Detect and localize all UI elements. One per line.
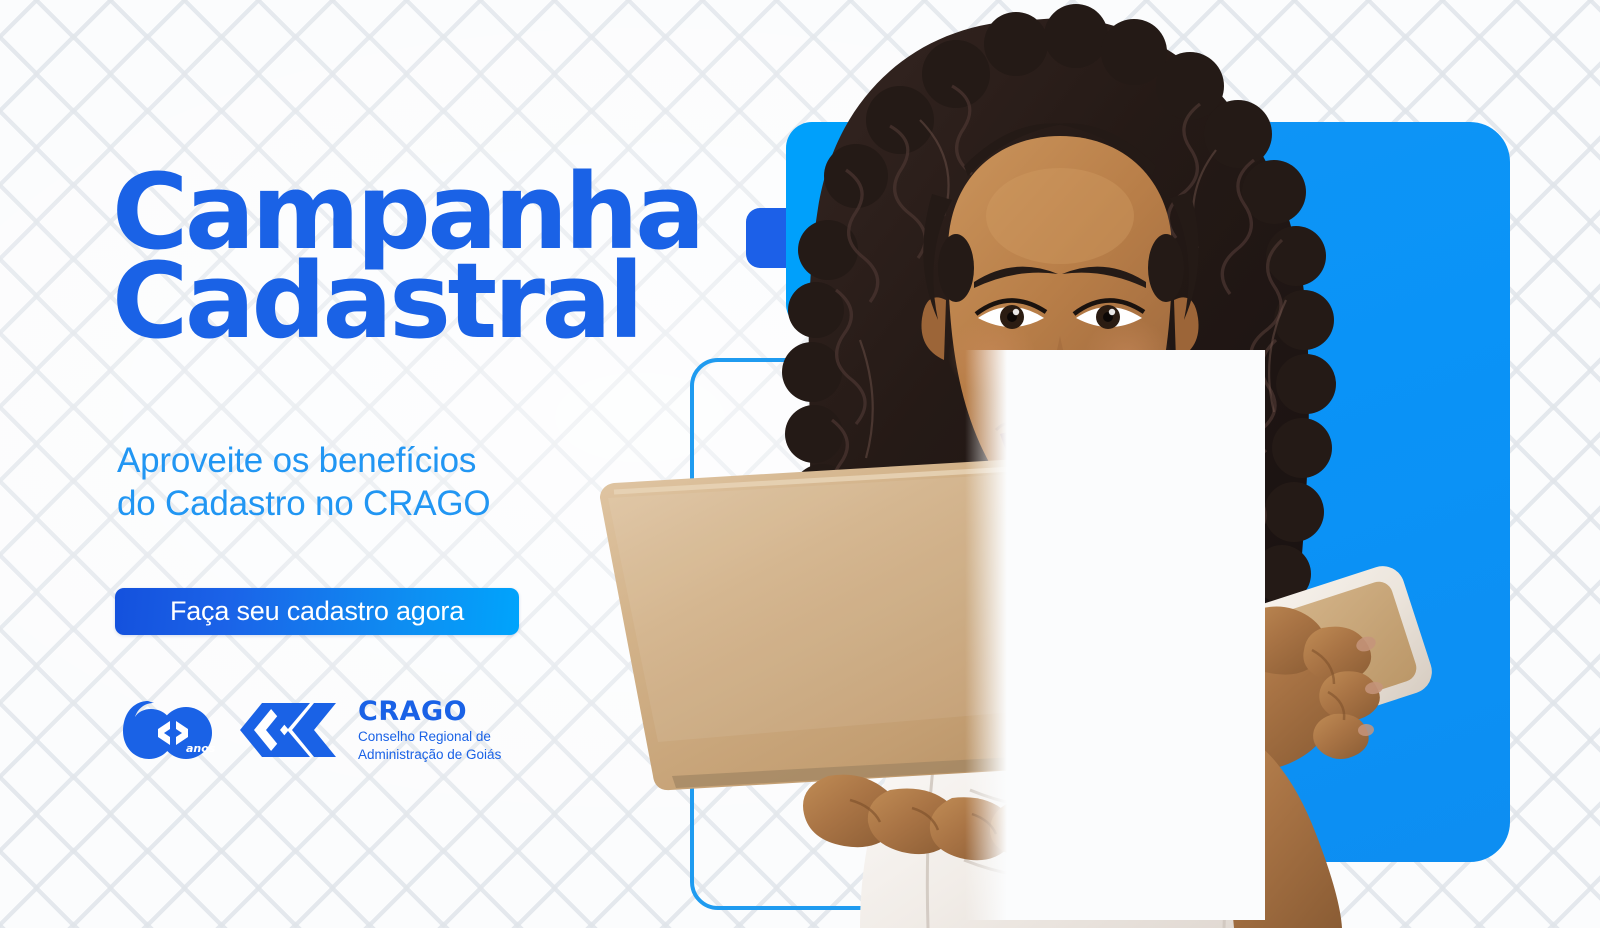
outline-occlusion-mask: [965, 350, 1265, 920]
subtitle-line-2: do Cadastro no CRAGO: [117, 483, 490, 526]
brand-full-name: Conselho Regional de Administração de Go…: [358, 728, 501, 763]
subtitle-line-1: Aproveite os benefícios: [117, 440, 490, 483]
anniversary-word: anos: [186, 742, 216, 755]
page-title: Campanha Cadastral: [112, 168, 702, 347]
logo-text-block: CRAGO Conselho Regional de Administração…: [358, 698, 501, 763]
logo-lockup: anos CRAGO Conselho Regional de Administ…: [118, 698, 501, 763]
subtitle: Aproveite os benefícios do Cadastro no C…: [117, 440, 490, 525]
crago-diamond-mark-icon: [236, 701, 340, 759]
brand-full-line-1: Conselho Regional de: [358, 728, 501, 745]
anniversary-60-anos-icon: anos: [118, 699, 218, 761]
register-now-button[interactable]: Faça seu cadastro agora: [115, 588, 519, 635]
campaign-banner: panha astral anha stral anha stral anha …: [0, 0, 1600, 928]
headline-line-2: Cadastral: [112, 257, 702, 346]
brand-name: CRAGO: [358, 698, 501, 726]
brand-full-line-2: Administração de Goiás: [358, 746, 501, 763]
